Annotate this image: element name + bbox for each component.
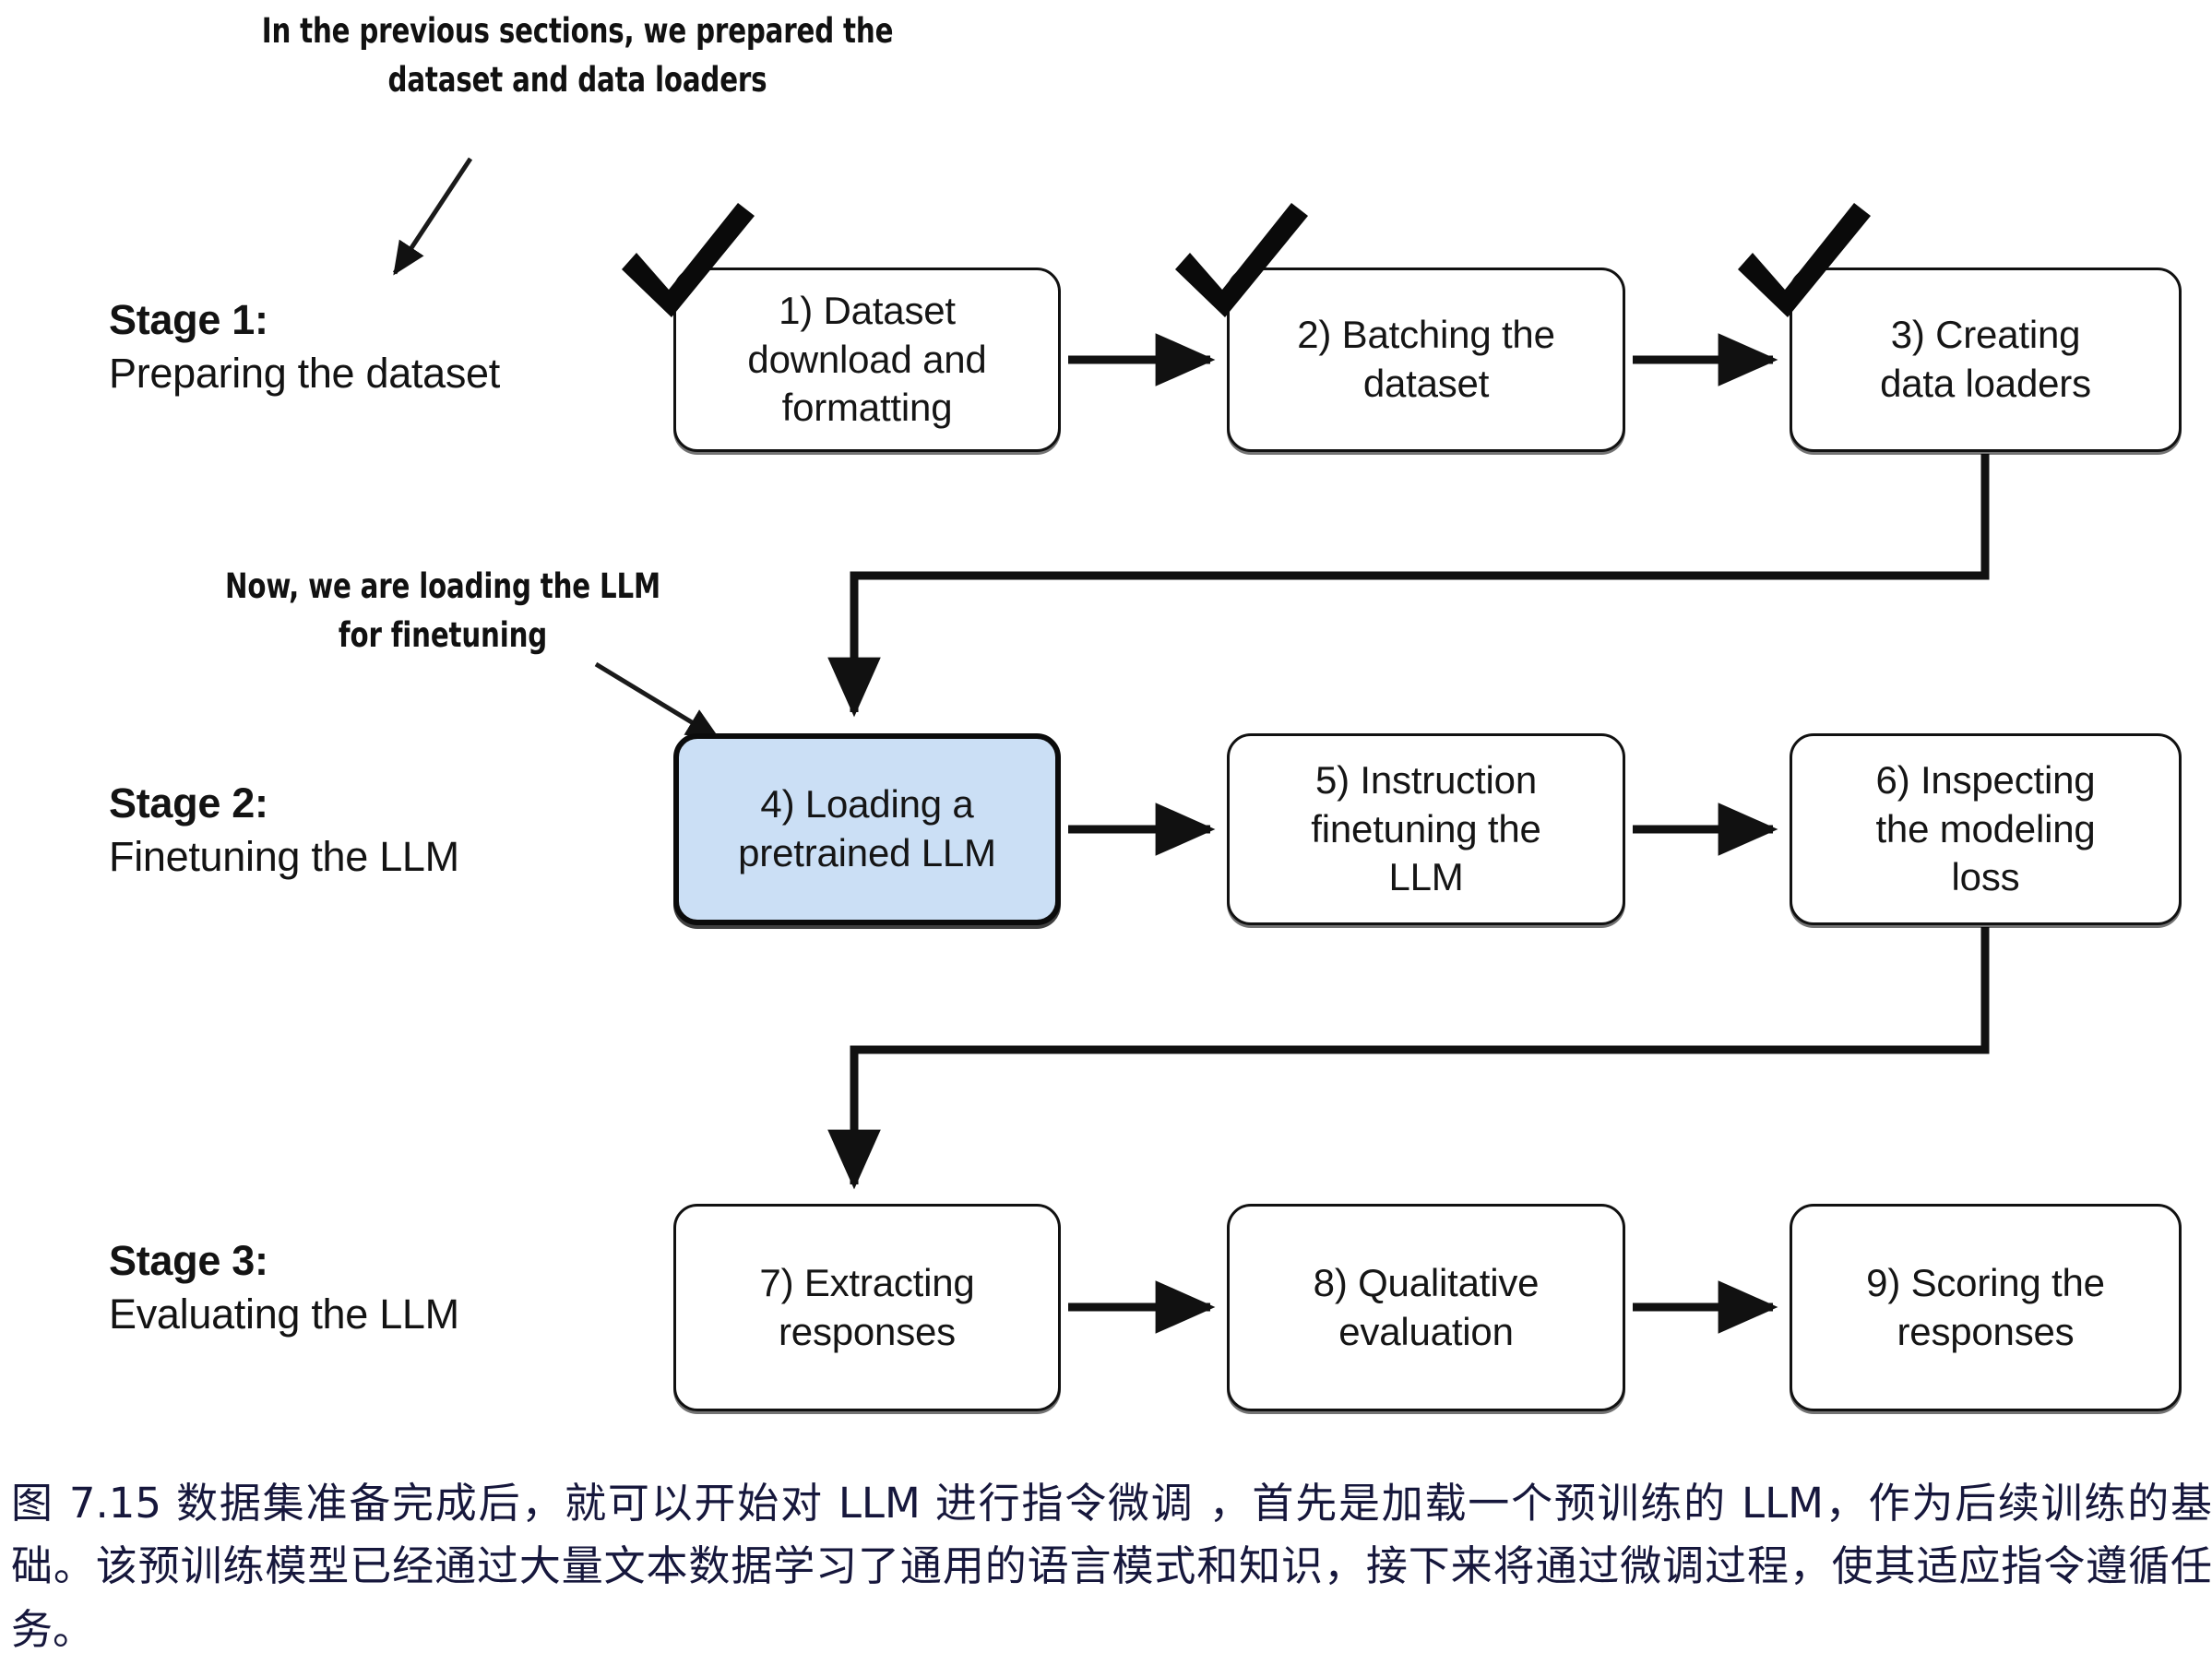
stage-3-subtitle: Evaluating the LLM: [109, 1288, 681, 1341]
checkmark-icon: [1732, 201, 1871, 330]
stage-2-title: Stage 2:: [109, 777, 681, 830]
figure-canvas: In the previous sections, we prepared th…: [0, 0, 2212, 1677]
connector-node3-to-node4: [854, 454, 1985, 712]
figure-caption: 图 7.15 数据集准备完成后，就可以开始对 LLM 进行指令微调 ，首先是加载…: [11, 1472, 2212, 1661]
annotation-loading-llm: Now, we are loading the LLM for finetuni…: [159, 563, 727, 660]
flow-node-scoring-responses[interactable]: 9) Scoring the responses: [1790, 1204, 2182, 1411]
stage-label-3: Stage 3: Evaluating the LLM: [109, 1234, 681, 1340]
connector-node6-to-node7: [854, 927, 1985, 1184]
flow-node-inspecting-modeling-loss[interactable]: 6) Inspecting the modeling loss: [1790, 733, 2182, 925]
annotation-arrow-loading-llm: [596, 664, 718, 738]
stage-1-title: Stage 1:: [109, 293, 681, 347]
stage-label-1: Stage 1: Preparing the dataset: [109, 293, 681, 399]
flow-node-loading-pretrained-llm[interactable]: 4) Loading a pretrained LLM: [673, 733, 1061, 925]
stage-3-title: Stage 3:: [109, 1234, 681, 1288]
stage-2-subtitle: Finetuning the LLM: [109, 830, 681, 884]
checkmark-icon: [616, 201, 755, 330]
checkmark-icon: [1170, 201, 1308, 330]
annotation-previous-sections: In the previous sections, we prepared th…: [212, 7, 943, 104]
stage-1-subtitle: Preparing the dataset: [109, 347, 681, 400]
annotation-arrow-previous-sections: [395, 159, 470, 273]
flow-node-qualitative-evaluation[interactable]: 8) Qualitative evaluation: [1227, 1204, 1625, 1411]
flow-node-extracting-responses[interactable]: 7) Extracting responses: [673, 1204, 1061, 1411]
stage-label-2: Stage 2: Finetuning the LLM: [109, 777, 681, 883]
flow-node-instruction-finetuning[interactable]: 5) Instruction finetuning the LLM: [1227, 733, 1625, 925]
